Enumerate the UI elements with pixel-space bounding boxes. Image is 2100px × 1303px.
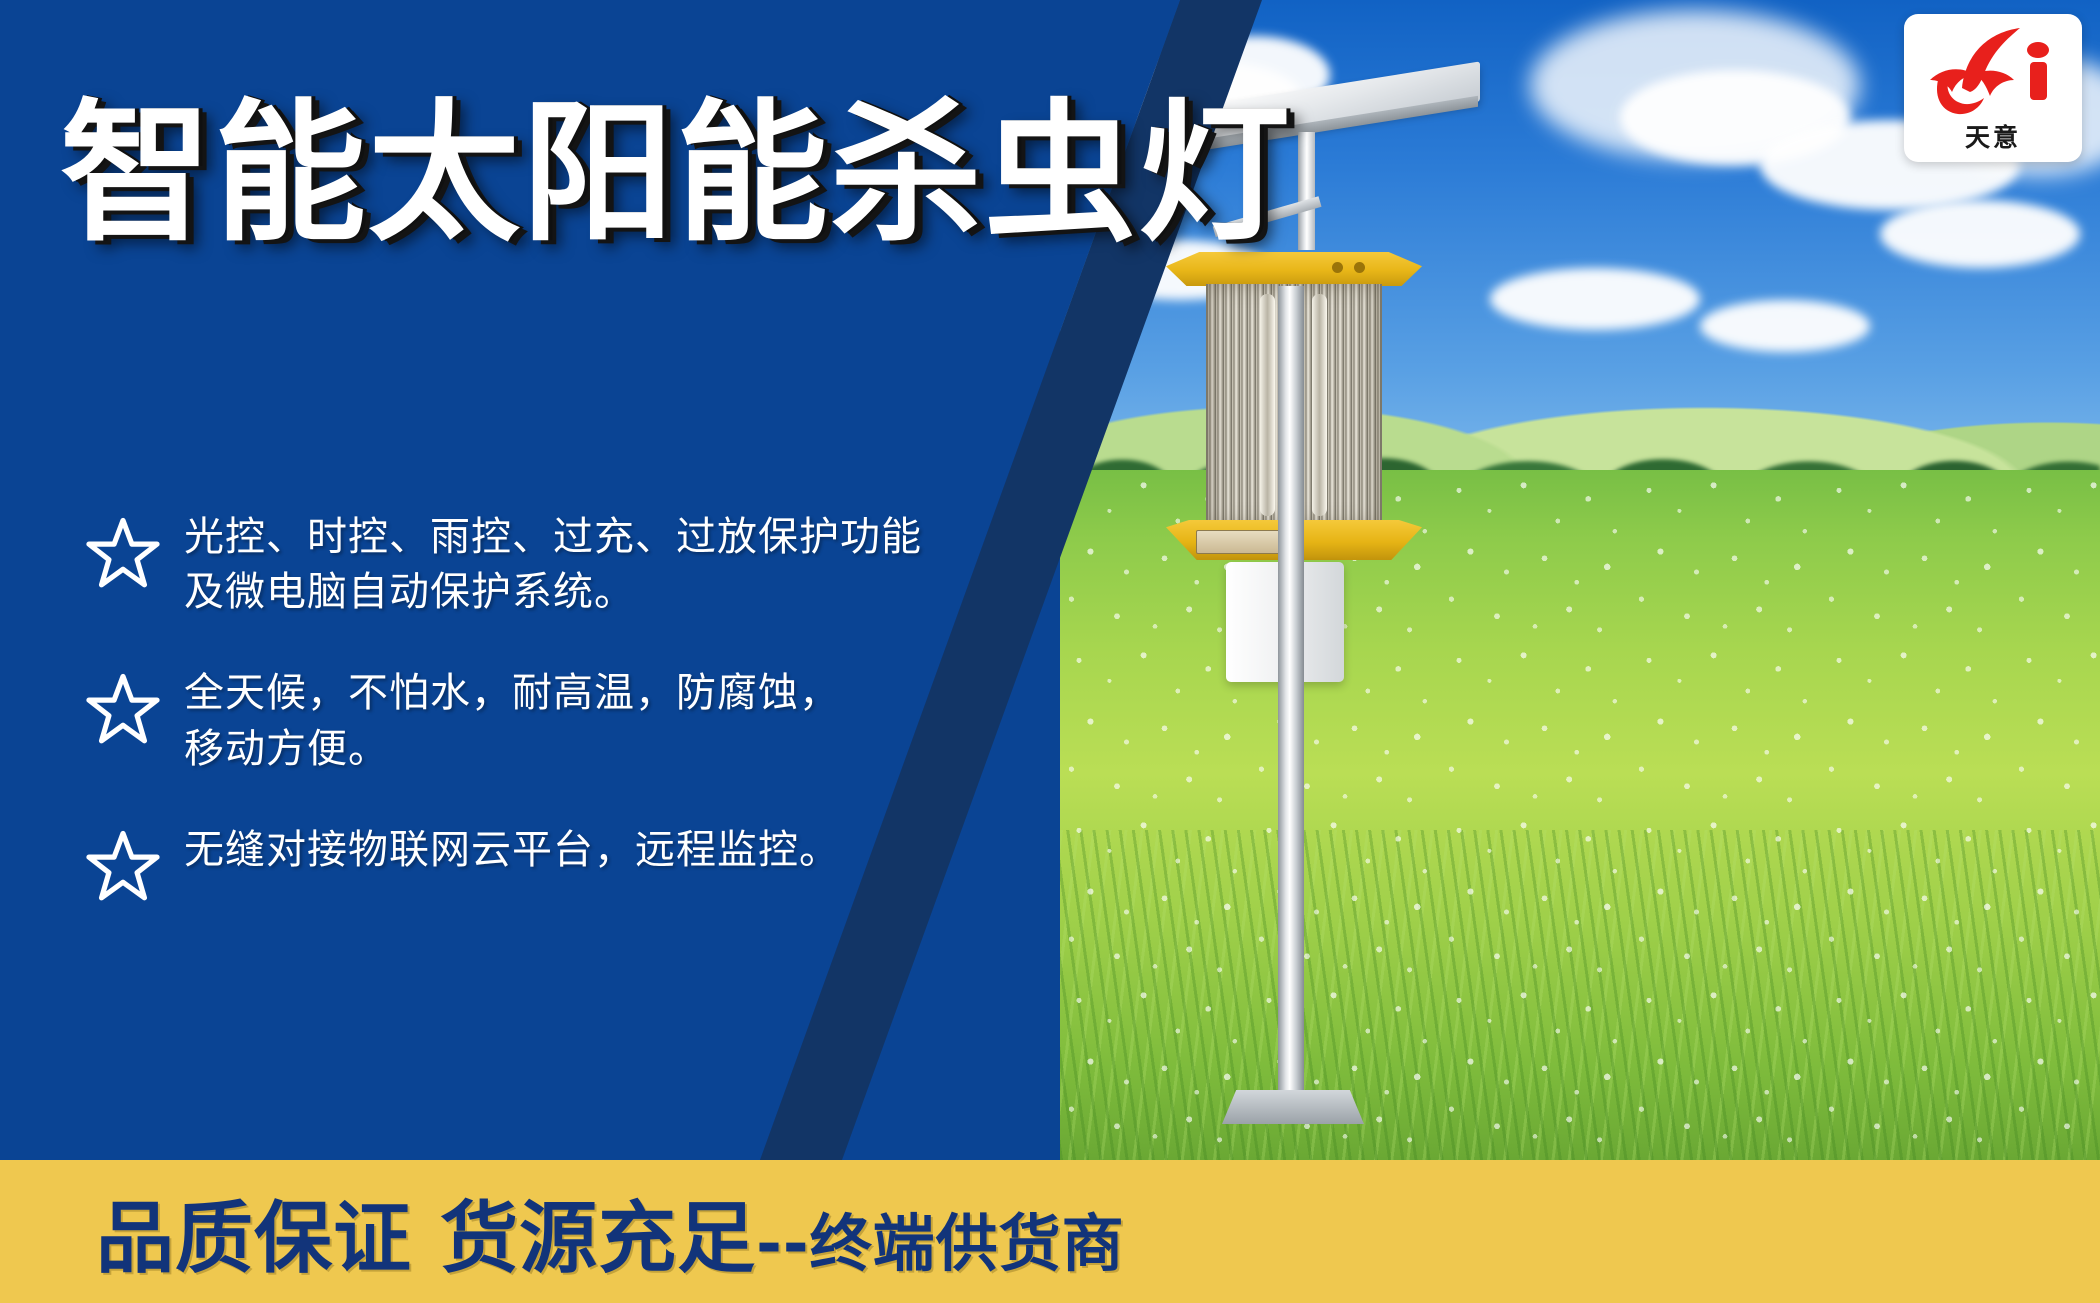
uv-tube [1260,294,1275,516]
star-icon [86,516,160,590]
feature-text: 光控、时控、雨控、过充、过放保护功能 及微电脑自动保护系统。 [184,510,922,620]
base-plate [1222,1090,1364,1124]
hood-vent-icon [1332,262,1343,273]
footer-headline: 品质保证 货源充足 [96,1194,756,1284]
feature-line: 及微电脑自动保护系统。 [184,565,922,620]
list-item: 全天候，不怕水，耐高温，防腐蚀， 移动方便。 [86,666,986,776]
star-icon [86,672,160,746]
list-item: 光控、时控、雨控、过充、过放保护功能 及微电脑自动保护系统。 [86,510,986,620]
promotional-banner: 智能太阳能杀虫灯 光控、时控、雨控、过充、过放保护功能 及微电脑自动保护系统。 … [0,0,2100,1303]
feature-line: 移动方便。 [184,722,840,777]
feature-line: 无缝对接物联网云平台，远程监控。 [184,823,840,878]
product-label [1196,530,1290,554]
cloud-shape [1880,200,2080,268]
brand-logo[interactable]: 天意 [1904,14,2082,162]
feature-line: 光控、时控、雨控、过充、过放保护功能 [184,510,922,565]
star-icon [86,829,160,903]
footer-bar: 品质保证 货源充足--终端供货商 [0,1160,2100,1303]
feature-text: 无缝对接物联网云平台，远程监控。 [184,823,840,878]
brand-name: 天意 [1904,118,2082,154]
footer-text: 品质保证 货源充足--终端供货商 [96,1176,1125,1288]
feature-list: 光控、时控、雨控、过充、过放保护功能 及微电脑自动保护系统。 全天候，不怕水，耐… [86,510,986,949]
panel-mount-arm [1298,132,1315,250]
uv-tube [1312,294,1327,516]
tianyi-bird-logo-icon [1904,18,2082,122]
page-title: 智能太阳能杀虫灯 [60,98,1292,250]
list-item: 无缝对接物联网云平台，远程监控。 [86,823,986,903]
feature-text: 全天候，不怕水，耐高温，防腐蚀， 移动方便。 [184,666,840,776]
support-pole [1278,286,1304,1096]
footer-tagline: --终端供货商 [756,1207,1124,1280]
feature-line: 全天候，不怕水，耐高温，防腐蚀， [184,666,840,721]
hood-vent-icon [1354,262,1365,273]
